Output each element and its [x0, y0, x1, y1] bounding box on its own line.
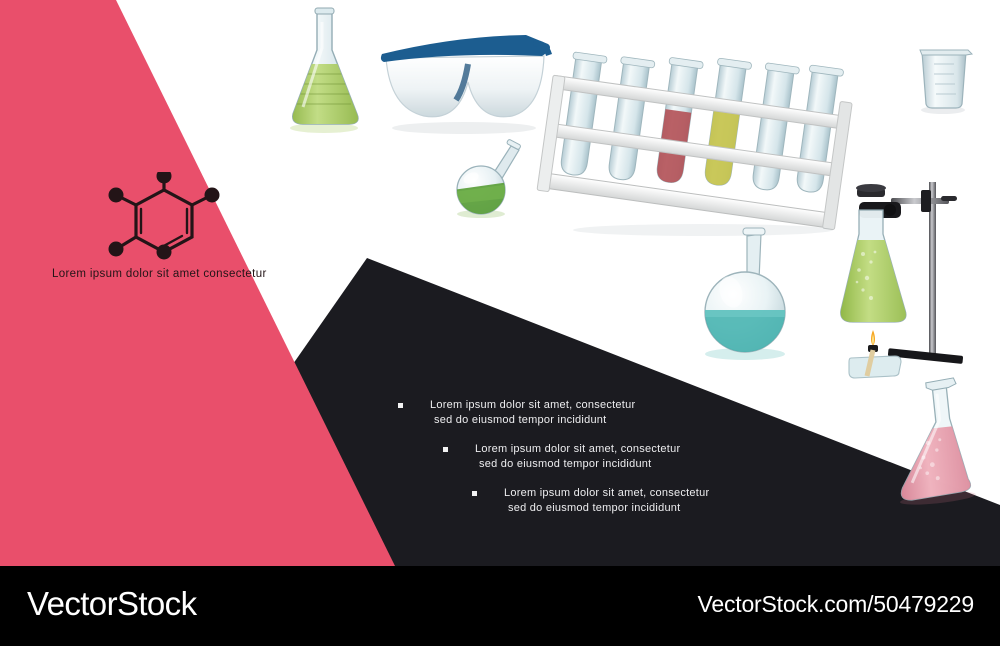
list-item-line1: Lorem ipsum dolor sit amet, consectetur: [398, 398, 798, 413]
benzene-ring-icon: [96, 172, 232, 272]
erlenmeyer-flask-pink: [882, 372, 992, 507]
molecule-diagram: [96, 172, 232, 272]
square-bullet-icon: [398, 403, 403, 408]
round-flask-green: [449, 138, 529, 218]
vectorstock-logo: VectorStock: [27, 585, 197, 623]
list-item[interactable]: Lorem ipsum dolor sit amet, consectetur …: [443, 442, 798, 472]
test-tube-rack: [543, 52, 853, 237]
feature-bullet-list: Lorem ipsum dolor sit amet, consectetur …: [398, 398, 798, 530]
erlenmeyer-flask-green: [283, 2, 369, 132]
square-bullet-icon: [472, 491, 477, 496]
list-item-line2: sed do eiusmod tempor incididunt: [398, 413, 798, 428]
pink-panel-caption: Lorem ipsum dolor sit amet consectetur: [52, 268, 352, 280]
list-item-line2: sed do eiusmod tempor incididunt: [472, 501, 798, 516]
list-item-line2: sed do eiusmod tempor incididunt: [443, 457, 798, 472]
list-item[interactable]: Lorem ipsum dolor sit amet, consectetur …: [472, 486, 798, 516]
watermark-footer: VectorStock VectorStock.com/50479229: [0, 566, 1000, 646]
list-item-line1: Lorem ipsum dolor sit amet, consectetur: [443, 442, 798, 457]
beaker-empty: [912, 44, 976, 116]
list-item-line1: Lorem ipsum dolor sit amet, consectetur: [472, 486, 798, 501]
square-bullet-icon: [443, 447, 448, 452]
safety-goggles: [376, 30, 556, 140]
poster-canvas: Lorem ipsum dolor sit amet consectetur L…: [0, 0, 1000, 646]
list-item[interactable]: Lorem ipsum dolor sit amet, consectetur …: [398, 398, 798, 428]
round-flask-teal: [697, 222, 807, 362]
flask-on-stand: [833, 182, 963, 382]
vectorstock-url: VectorStock.com/50479229: [698, 591, 975, 618]
